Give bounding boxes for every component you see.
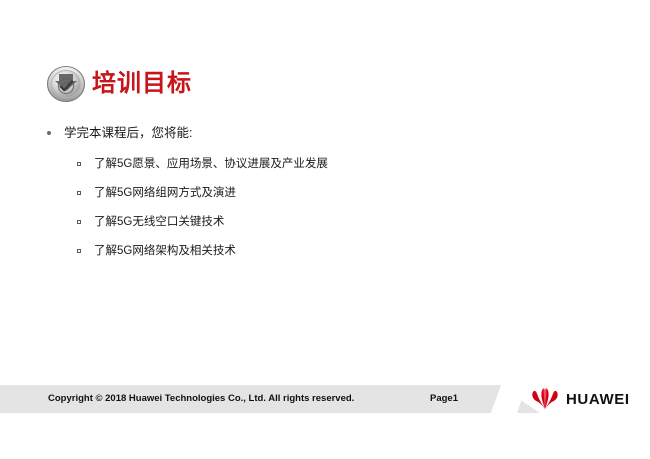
list-item-text: 了解5G愿景、应用场景、协议进展及产业发展	[94, 158, 328, 170]
list-item: 了解5G愿景、应用场景、协议进展及产业发展	[44, 156, 584, 172]
list-item: 了解5G网络架构及相关技术	[44, 243, 584, 259]
hollow-square-bullet-icon	[77, 220, 81, 224]
list-item-text: 了解5G网络组网方式及演进	[94, 187, 236, 199]
list-item: 了解5G无线空口关键技术	[44, 214, 584, 230]
page-number: Page1	[430, 385, 458, 413]
slide-footer: Copyright © 2018 Huawei Technologies Co.…	[0, 385, 650, 413]
objective-list: 了解5G愿景、应用场景、协议进展及产业发展 了解5G网络组网方式及演进 了解5G…	[44, 156, 584, 259]
lead-bullet: 学完本课程后，您将能:	[44, 124, 584, 142]
list-item-text: 了解5G网络架构及相关技术	[94, 245, 236, 257]
objective-target-icon	[46, 65, 86, 103]
slide-title-block: 培训目标	[46, 65, 192, 103]
hollow-square-bullet-icon	[77, 249, 81, 253]
hollow-square-bullet-icon	[77, 162, 81, 166]
hollow-square-bullet-icon	[77, 191, 81, 195]
huawei-flower-logo-icon	[531, 388, 559, 410]
page-title: 培训目标	[92, 72, 192, 96]
huawei-brand-lockup: HUAWEI	[531, 386, 630, 412]
lead-bullet-text: 学完本课程后，您将能:	[64, 126, 192, 140]
slide-canvas: 培训目标 学完本课程后，您将能: 了解5G愿景、应用场景、协议进展及产业发展 了…	[0, 0, 650, 459]
list-item: 了解5G网络组网方式及演进	[44, 185, 584, 201]
filled-dot-bullet-icon	[47, 131, 51, 135]
list-item-text: 了解5G无线空口关键技术	[94, 216, 224, 228]
copyright-text: Copyright © 2018 Huawei Technologies Co.…	[48, 385, 354, 413]
objectives-body: 学完本课程后，您将能: 了解5G愿景、应用场景、协议进展及产业发展 了解5G网络…	[44, 124, 584, 272]
huawei-wordmark: HUAWEI	[566, 392, 630, 407]
